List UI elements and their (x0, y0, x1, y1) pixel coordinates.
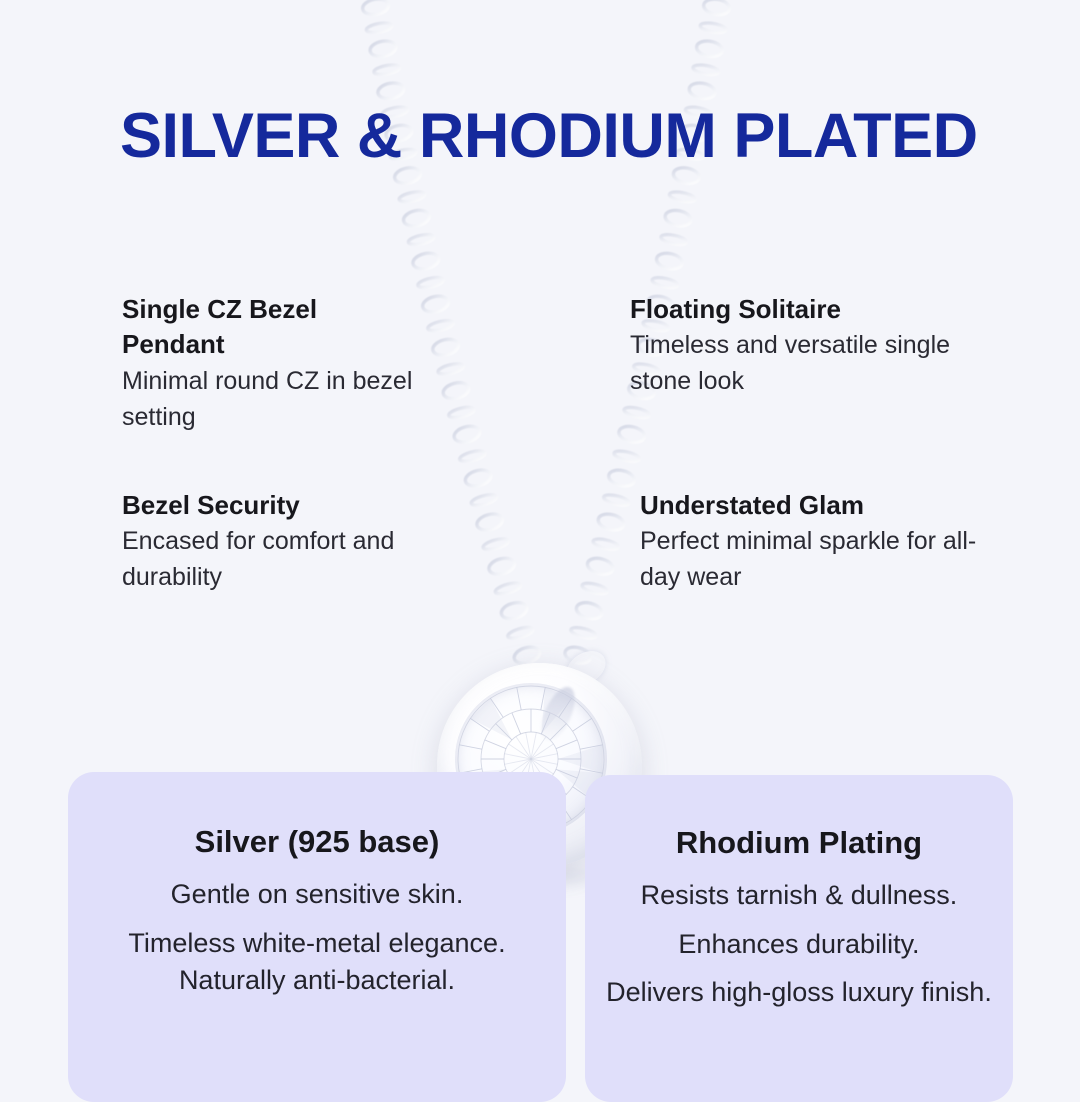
feature-heading: Bezel Security (122, 488, 432, 523)
card-line: Delivers high-gloss luxury finish. (605, 974, 993, 1011)
feature-single-cz-bezel-pendant: Single CZ Bezel Pendant Minimal round CZ… (122, 292, 422, 435)
card-body: Resists tarnish & dullness. Enhances dur… (605, 877, 993, 1011)
card-title: Rhodium Plating (605, 823, 993, 863)
feature-body: Encased for comfort and durability (122, 523, 432, 595)
feature-heading: Floating Solitaire (630, 292, 1002, 327)
feature-bezel-security: Bezel Security Encased for comfort and d… (122, 488, 432, 595)
feature-understated-glam: Understated Glam Perfect minimal sparkle… (640, 488, 1000, 595)
card-line: Timeless white-metal elegance. (92, 925, 542, 962)
feature-body: Perfect minimal sparkle for all-day wear (640, 523, 1000, 595)
card-body: Gentle on sensitive skin. Timeless white… (92, 876, 542, 999)
card-rhodium-plating: Rhodium Plating Resists tarnish & dullne… (585, 775, 1013, 1102)
card-line: Resists tarnish & dullness. (605, 877, 993, 914)
card-silver-925-base: Silver (925 base) Gentle on sensitive sk… (68, 772, 566, 1102)
feature-floating-solitaire: Floating Solitaire Timeless and versatil… (630, 292, 1002, 399)
card-title: Silver (925 base) (92, 822, 542, 862)
card-line: Enhances durability. (605, 926, 993, 963)
feature-body: Minimal round CZ in bezel setting (122, 363, 422, 435)
feature-body: Timeless and versatile single stone look (630, 327, 1002, 399)
feature-heading: Single CZ Bezel Pendant (122, 292, 422, 363)
card-line: Gentle on sensitive skin. (92, 876, 542, 913)
feature-heading: Understated Glam (640, 488, 1000, 523)
card-line: Naturally anti-bacterial. (92, 962, 542, 999)
